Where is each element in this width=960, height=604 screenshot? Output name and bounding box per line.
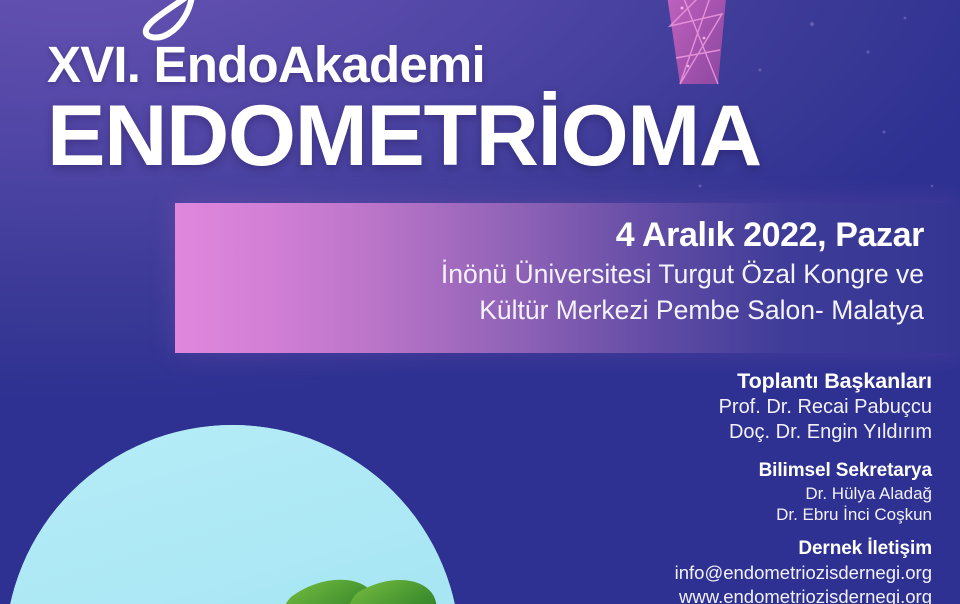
- edition-title: XVI. EndoAkademi: [47, 38, 937, 91]
- chair-person: Prof. Dr. Recai Pabuçcu: [462, 395, 932, 420]
- secretariat-person: Dr. Ebru İnci Coşkun: [462, 504, 932, 525]
- credits-column: Toplantı Başkanları Prof. Dr. Recai Pabu…: [462, 368, 932, 604]
- topic-title: ENDOMETRİOMA: [47, 97, 955, 176]
- conference-poster: XVI. EndoAkademi ENDOMETRİOMA 4 Aralık 2…: [0, 0, 960, 604]
- contact-website[interactable]: www.endometriozisdernegi.org: [462, 585, 932, 604]
- event-venue-line-1: İnönü Üniversitesi Turgut Özal Kongre ve: [224, 258, 924, 291]
- apricot-branch-photo: [5, 425, 460, 604]
- secretariat-heading: Bilimsel Sekretarya: [462, 459, 932, 482]
- event-venue-line-2: Kültür Merkezi Pembe Salon- Malatya: [224, 294, 924, 327]
- contact-heading: Dernek İletişim: [462, 537, 932, 560]
- date-venue-band: 4 Aralık 2022, Pazar İnönü Üniversitesi …: [175, 203, 960, 353]
- chairs-heading: Toplantı Başkanları: [462, 368, 932, 394]
- contact-group: Dernek İletişim info@endometriozisderneg…: [462, 537, 932, 604]
- contact-email[interactable]: info@endometriozisdernegi.org: [462, 561, 932, 585]
- chair-person: Doç. Dr. Engin Yıldırım: [462, 420, 932, 445]
- poster-headline: XVI. EndoAkademi ENDOMETRİOMA: [47, 38, 937, 176]
- event-date: 4 Aralık 2022, Pazar: [224, 215, 924, 255]
- date-venue-text: 4 Aralık 2022, Pazar İnönü Üniversitesi …: [224, 215, 924, 328]
- secretariat-person: Dr. Hülya Aladağ: [462, 483, 932, 504]
- chairs-group: Toplantı Başkanları Prof. Dr. Recai Pabu…: [462, 368, 932, 445]
- secretariat-group: Bilimsel Sekretarya Dr. Hülya Aladağ Dr.…: [462, 459, 932, 525]
